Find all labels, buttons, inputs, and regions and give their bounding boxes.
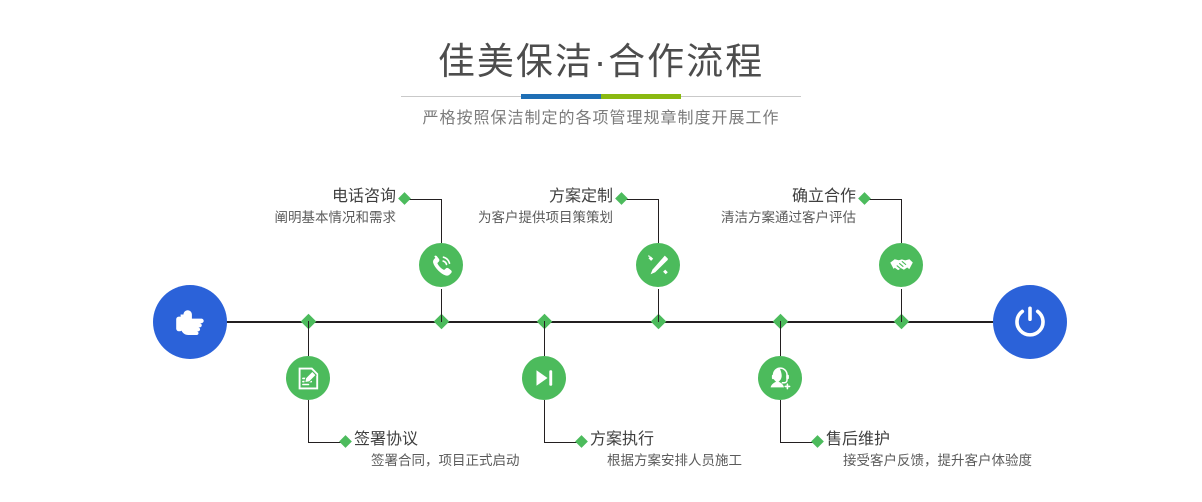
connector-line-vertical [441, 289, 442, 322]
connector-line-vertical [544, 400, 545, 442]
handshake-icon [888, 252, 915, 279]
connector-line-vertical [780, 321, 781, 356]
step-node-plan-execute[interactable] [522, 356, 566, 400]
step-node-plan-custom[interactable] [636, 243, 680, 287]
page-title: 佳美保洁·合作流程 [0, 40, 1202, 84]
connector-line-vertical [901, 289, 902, 322]
step-title: 方案定制 [331, 186, 613, 208]
play-skip-icon [532, 366, 556, 390]
step-desc: 清洁方案通过客户评估 [574, 208, 856, 228]
pencil-ruler-icon [645, 252, 671, 278]
step-title: 确立合作 [574, 186, 856, 208]
connector-line-horizontal [866, 199, 901, 200]
step-node-establish-cooperation[interactable] [879, 243, 923, 287]
step-label-establish-cooperation: 确立合作 清洁方案通过客户评估 [574, 186, 856, 228]
step-title: 售后维护 [826, 429, 1166, 451]
connector-line-horizontal [780, 442, 816, 443]
connector-line-vertical [658, 289, 659, 322]
connector-line-vertical [780, 400, 781, 442]
connector-line-vertical [308, 321, 309, 356]
step-desc: 接受客户反馈，提升客户体验度 [826, 451, 1166, 471]
connector-line-vertical [308, 400, 309, 442]
connector-line-horizontal [308, 442, 344, 443]
headset-agent-icon [768, 366, 793, 391]
connector-diamond [339, 435, 352, 448]
phone-ring-icon [428, 252, 454, 278]
flowchart-canvas: 佳美保洁·合作流程 严格按照保洁制定的各项管理规章制度开展工作 [0, 0, 1202, 502]
step-node-sign-agreement[interactable] [286, 356, 330, 400]
document-pen-icon [296, 366, 321, 391]
step-node-after-sales[interactable] [758, 356, 802, 400]
connector-line-vertical [544, 321, 545, 356]
connector-diamond [858, 192, 871, 205]
step-node-phone-consult[interactable] [419, 243, 463, 287]
connector-line-horizontal [544, 442, 580, 443]
connector-line-vertical [901, 199, 902, 243]
power-icon [1009, 301, 1051, 343]
timeline-start-node[interactable] [153, 285, 227, 359]
page-subtitle: 严格按照保洁制定的各项管理规章制度开展工作 [0, 107, 1202, 131]
step-desc: 为客户提供项目策策划 [331, 208, 613, 228]
divider-segment-blue [521, 94, 601, 99]
step-label-plan-custom: 方案定制 为客户提供项目策策划 [331, 186, 613, 228]
step-label-after-sales: 售后维护 接受客户反馈，提升客户体验度 [826, 429, 1166, 471]
divider-segment-green [601, 94, 681, 99]
timeline-end-node[interactable] [993, 285, 1067, 359]
pointing-hand-icon [170, 302, 210, 342]
title-divider [401, 94, 801, 99]
